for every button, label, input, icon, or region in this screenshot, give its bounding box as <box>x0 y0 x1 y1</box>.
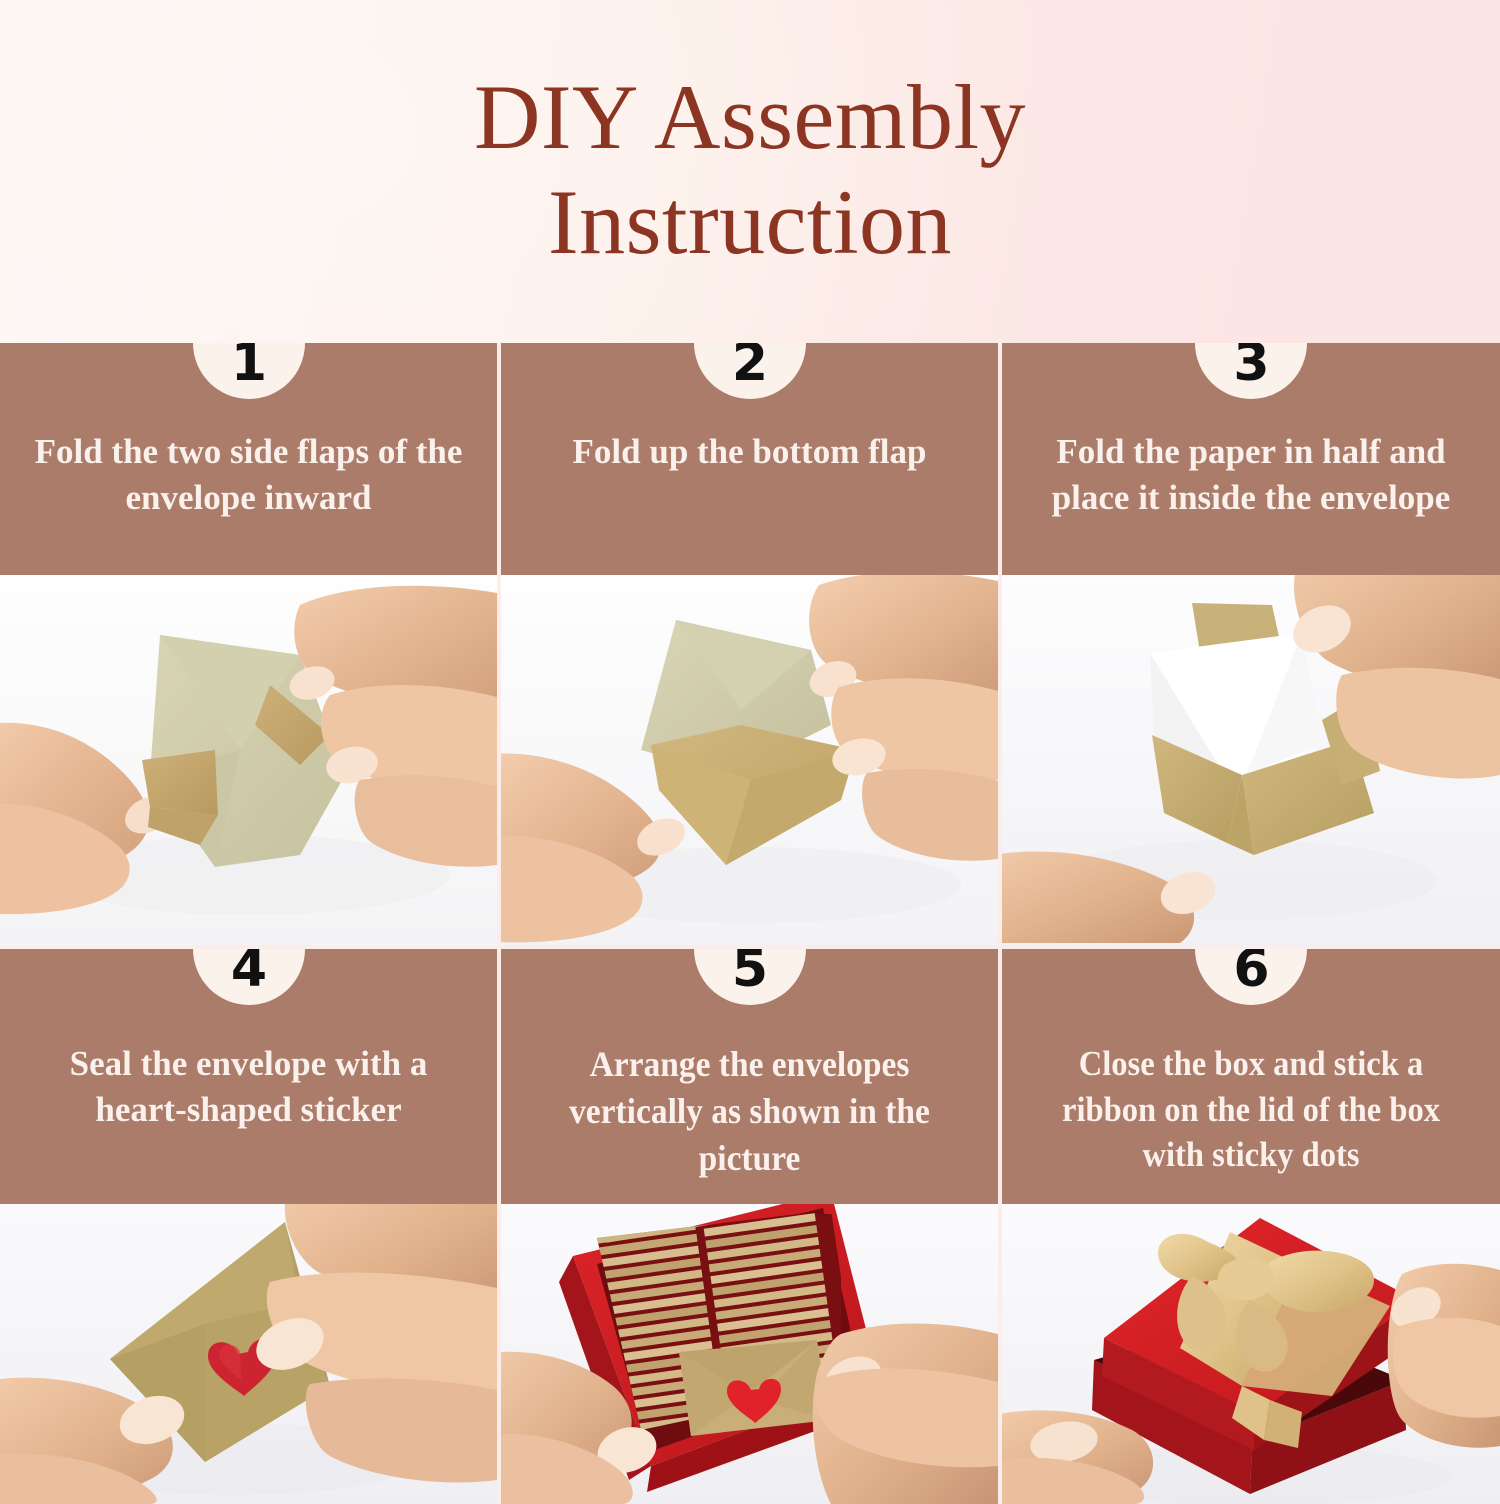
step-caption-text-1: Fold the two side flaps of the envelope … <box>0 429 497 520</box>
step-caption-text-4: Seal the envelope with a heart-shaped st… <box>0 1041 497 1132</box>
step-card-5: 5 Arrange the envelopes vertically as sh… <box>501 949 998 1504</box>
photo-illustration-heart-sticker-seal <box>0 1204 497 1504</box>
photo-illustration-envelope-side-flaps <box>0 575 497 945</box>
step-card-1: 1 Fold the two side flaps of the envelop… <box>0 343 497 945</box>
step-card-4: 4 Seal the envelope with a heart-shaped … <box>0 949 497 1504</box>
step-caption-panel-3: 3 Fold the paper in half and place it in… <box>1002 343 1500 575</box>
step-card-2: 2 Fold up the bottom flap <box>501 343 998 945</box>
step-caption-text-2: Fold up the bottom flap <box>501 429 998 475</box>
step-caption-panel-1: 1 Fold the two side flaps of the envelop… <box>0 343 497 575</box>
step-number-4: 4 <box>231 949 266 995</box>
page-header: DIY Assembly Instruction <box>0 0 1500 343</box>
page-title-line-1: DIY Assembly <box>0 66 1500 169</box>
step-caption-panel-6: 6 Close the box and stick a ribbon on th… <box>1002 949 1500 1204</box>
step-number-1: 1 <box>231 343 266 389</box>
step-card-6: 6 Close the box and stick a ribbon on th… <box>1002 949 1500 1504</box>
photo-illustration-red-box-with-envelopes <box>501 1204 998 1504</box>
step-photo-2 <box>501 575 998 945</box>
step-photo-3 <box>1002 575 1500 945</box>
step-number-3: 3 <box>1233 343 1268 389</box>
step-caption-panel-5: 5 Arrange the envelopes vertically as sh… <box>501 949 998 1204</box>
steps-grid: 1 Fold the two side flaps of the envelop… <box>0 343 1500 1500</box>
step-number-6: 6 <box>1233 949 1268 995</box>
photo-illustration-note-into-envelope <box>1002 575 1500 945</box>
step-caption-text-5: Arrange the envelopes vertically as show… <box>518 1041 980 1181</box>
diy-assembly-instruction-page: DIY Assembly Instruction 1 Fold the two … <box>0 0 1500 1500</box>
step-photo-1 <box>0 575 497 945</box>
step-photo-4 <box>0 1204 497 1504</box>
step-caption-text-3: Fold the paper in half and place it insi… <box>1002 429 1500 520</box>
step-photo-6 <box>1002 1204 1500 1504</box>
step-caption-panel-4: 4 Seal the envelope with a heart-shaped … <box>0 949 497 1204</box>
photo-illustration-red-gift-box-gold-bow <box>1002 1204 1500 1504</box>
page-title: DIY Assembly Instruction <box>0 66 1500 274</box>
step-number-5: 5 <box>732 949 767 995</box>
step-number-2: 2 <box>732 343 767 389</box>
step-caption-text-6: Close the box and stick a ribbon on the … <box>1019 1041 1482 1178</box>
step-caption-panel-2: 2 Fold up the bottom flap <box>501 343 998 575</box>
step-card-3: 3 Fold the paper in half and place it in… <box>1002 343 1500 945</box>
step-photo-5 <box>501 1204 998 1504</box>
page-title-line-2: Instruction <box>0 171 1500 274</box>
photo-illustration-envelope-bottom-flap <box>501 575 998 945</box>
